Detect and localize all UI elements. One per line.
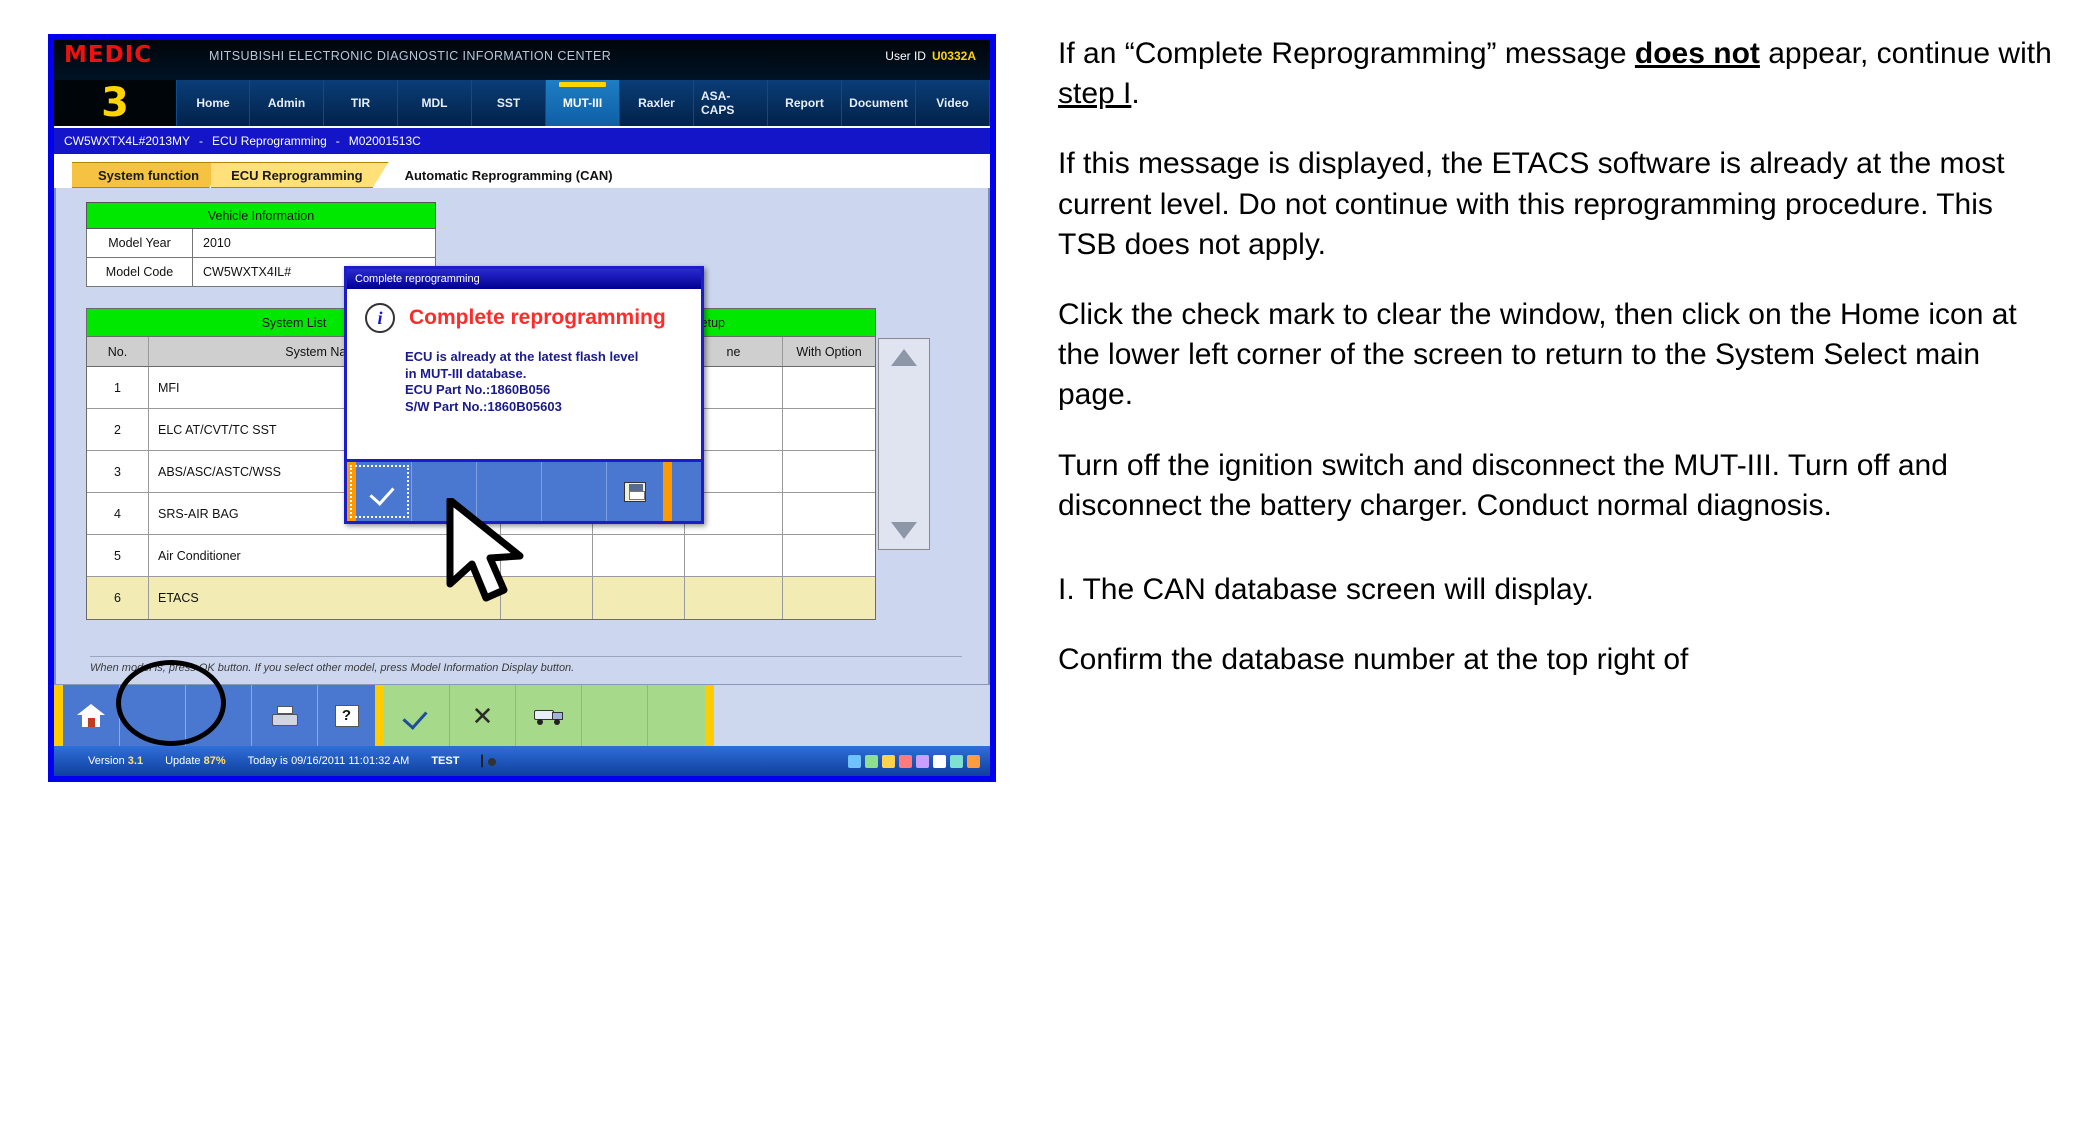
status-today-label: Today is	[248, 755, 288, 767]
instruction-paragraph-3: Click the check mark to clear the window…	[1058, 295, 2058, 416]
scroll-up-icon[interactable]	[891, 349, 917, 366]
nav-item-tir[interactable]: TIR	[324, 80, 398, 126]
printer-icon	[272, 706, 298, 726]
tray-icon-5[interactable]	[916, 755, 929, 768]
help-icon: ?	[335, 705, 359, 727]
breadcrumb-separator-1: -	[199, 134, 203, 148]
check-icon	[404, 703, 430, 729]
dialog-title-bar: Complete reprogramming	[347, 269, 701, 289]
row-cell-check[interactable]	[501, 535, 593, 576]
row-cell-option	[783, 493, 875, 534]
nav-item-mut3[interactable]: MUT-III	[546, 80, 620, 126]
dialog-button-bar	[347, 459, 701, 521]
print-button[interactable]	[252, 685, 318, 746]
nav-item-admin[interactable]: Admin	[250, 80, 324, 126]
row-no: 2	[87, 409, 149, 450]
medic-logo: MEDIC	[64, 42, 152, 68]
model-code-label: Model Code	[87, 258, 193, 286]
tab-strip: System function ECU Reprogramming Automa…	[54, 154, 990, 188]
help-button[interactable]: ?	[318, 685, 384, 746]
tab-ecu-reprogramming[interactable]: ECU Reprogramming	[211, 162, 388, 188]
nav-item-sst[interactable]: SST	[472, 80, 546, 126]
user-id-label: User ID	[885, 49, 926, 63]
instr-1d: step I	[1058, 77, 1131, 110]
dialog-save-button[interactable]	[607, 462, 672, 521]
tray-icon-2[interactable]	[865, 755, 878, 768]
nav-item-raxler[interactable]: Raxler	[620, 80, 694, 126]
banner-subtitle: MITSUBISHI ELECTRONIC DIAGNOSTIC INFORMA…	[209, 49, 611, 63]
model-year-label: Model Year	[87, 229, 193, 257]
row-cell-check[interactable]	[501, 577, 593, 619]
toolbar-slot-4[interactable]	[648, 685, 714, 746]
instruction-spacer	[1058, 556, 2058, 570]
tab-automatic-reprogramming: Automatic Reprogramming (CAN)	[375, 162, 639, 188]
ok-button[interactable]	[384, 685, 450, 746]
instruction-paragraph-1: If an “Complete Reprogramming” message d…	[1058, 34, 2058, 114]
breadcrumb: CW5WXTX4L#2013MY - ECU Reprogramming - M…	[54, 126, 990, 154]
tab-system-function[interactable]: System function	[72, 162, 225, 188]
dialog-message: ECU is already at the latest flash level…	[347, 333, 701, 416]
row-cell-sub[interactable]	[593, 535, 685, 576]
breadcrumb-function: ECU Reprogramming	[212, 134, 327, 148]
status-today: Today is 09/16/2011 11:01:32 AM	[248, 755, 410, 767]
nav-item-document[interactable]: Document	[842, 80, 916, 126]
tray-icon-4[interactable]	[899, 755, 912, 768]
home-button-highlight-ellipse	[116, 660, 226, 746]
instr-1c: appear, continue with	[1760, 37, 2052, 70]
list-scroll-controls[interactable]	[878, 338, 930, 550]
save-icon	[624, 482, 646, 502]
home-button[interactable]	[54, 685, 120, 746]
breadcrumb-id: M02001513C	[349, 134, 421, 148]
cancel-icon: ✕	[472, 703, 494, 729]
complete-reprogramming-dialog: Complete reprogramming i Complete reprog…	[344, 266, 704, 524]
dialog-body: i Complete reprogramming ECU is already …	[347, 289, 701, 459]
toolbar-slot-3[interactable]	[582, 685, 648, 746]
status-tray-icons	[848, 755, 990, 768]
status-update-value: 87%	[204, 755, 226, 767]
instr-1b: does not	[1635, 37, 1760, 70]
breadcrumb-model: CW5WXTX4L#2013MY	[64, 134, 190, 148]
status-bar: Version 3.1 Update 87% Today is 09/16/20…	[54, 746, 990, 776]
status-mode: TEST	[431, 755, 459, 767]
mut3-application-window: MEDIC MITSUBISHI ELECTRONIC DIAGNOSTIC I…	[48, 34, 996, 782]
dialog-slot-3[interactable]	[542, 462, 607, 521]
status-version-label: Version	[88, 755, 125, 767]
instruction-paragraph-2: If this message is displayed, the ETACS …	[1058, 144, 2058, 265]
row-no: 5	[87, 535, 149, 576]
cancel-button[interactable]: ✕	[450, 685, 516, 746]
vehicle-info-row-model-year: Model Year 2010	[86, 229, 436, 258]
row-cell-option	[783, 577, 875, 619]
user-id-value: U0332A	[932, 49, 976, 63]
dialog-slot-1[interactable]	[412, 462, 477, 521]
row-no: 6	[87, 577, 149, 619]
check-ok-icon	[371, 479, 397, 505]
tray-icon-7[interactable]	[950, 755, 963, 768]
status-camera[interactable]	[481, 755, 483, 767]
model-year-value: 2010	[193, 229, 435, 257]
app-banner: MEDIC MITSUBISHI ELECTRONIC DIAGNOSTIC I…	[54, 40, 990, 80]
vehicle-information-title: Vehicle Information	[86, 202, 436, 229]
medic-version-logo: 3	[54, 80, 176, 126]
tray-icon-6[interactable]	[933, 755, 946, 768]
row-no: 1	[87, 367, 149, 408]
main-navigation: 3 Home Admin TIR MDL SST MUT-III Raxler …	[54, 80, 990, 126]
row-no: 4	[87, 493, 149, 534]
row-cell-option	[783, 367, 875, 408]
instr-1e: .	[1131, 77, 1139, 110]
instruction-paragraph-5: I. The CAN database screen will display.	[1058, 570, 2058, 610]
nav-item-asa-caps[interactable]: ASA-CAPS	[694, 80, 768, 126]
row-name: ETACS	[149, 577, 501, 619]
camera-icon	[481, 754, 483, 768]
row-cell-ne	[685, 577, 783, 619]
user-id: User IDU0332A	[885, 49, 976, 63]
toolbar-filler	[714, 685, 990, 746]
instruction-paragraph-6: Confirm the database number at the top r…	[1058, 640, 2058, 680]
instruction-paragraph-4: Turn off the ignition switch and disconn…	[1058, 446, 2058, 526]
row-cell-option	[783, 451, 875, 492]
nav-item-report[interactable]: Report	[768, 80, 842, 126]
tray-icon-3[interactable]	[882, 755, 895, 768]
scroll-down-icon[interactable]	[891, 522, 917, 539]
dialog-heading-row: i Complete reprogramming	[347, 289, 701, 333]
row-name: Air Conditioner	[149, 535, 501, 576]
info-icon: i	[365, 303, 395, 333]
col-header-no: No.	[87, 337, 149, 366]
table-row[interactable]: 5 Air Conditioner	[87, 535, 875, 577]
status-update-label: Update	[165, 755, 200, 767]
hint-text: When model is, press OK button. If you s…	[90, 656, 962, 674]
row-cell-ne	[685, 535, 783, 576]
status-version: Version 3.1	[88, 755, 143, 767]
nav-item-home[interactable]: Home	[176, 80, 250, 126]
instr-1a: If an “Complete Reprogramming” message	[1058, 37, 1635, 70]
dialog-heading: Complete reprogramming	[409, 306, 666, 330]
row-cell-option	[783, 535, 875, 576]
table-row-selected[interactable]: 6 ETACS	[87, 577, 875, 619]
status-today-value: 09/16/2011 11:01:32 AM	[291, 755, 409, 767]
instruction-text: If an “Complete Reprogramming” message d…	[1058, 34, 2058, 710]
nav-item-video[interactable]: Video	[916, 80, 990, 126]
vehicle-button[interactable]	[516, 685, 582, 746]
truck-icon	[534, 707, 564, 725]
row-cell-option	[783, 409, 875, 450]
nav-item-mdl[interactable]: MDL	[398, 80, 472, 126]
row-no: 3	[87, 451, 149, 492]
home-icon	[77, 704, 105, 728]
dialog-ok-button[interactable]	[347, 462, 412, 521]
tray-icon-1[interactable]	[848, 755, 861, 768]
col-header-with-option: With Option	[783, 337, 875, 366]
status-update: Update 87%	[165, 755, 226, 767]
status-version-value: 3.1	[128, 755, 143, 767]
tray-icon-8[interactable]	[967, 755, 980, 768]
breadcrumb-separator-2: -	[336, 134, 340, 148]
row-cell-sub[interactable]	[593, 577, 685, 619]
dialog-slot-2[interactable]	[477, 462, 542, 521]
